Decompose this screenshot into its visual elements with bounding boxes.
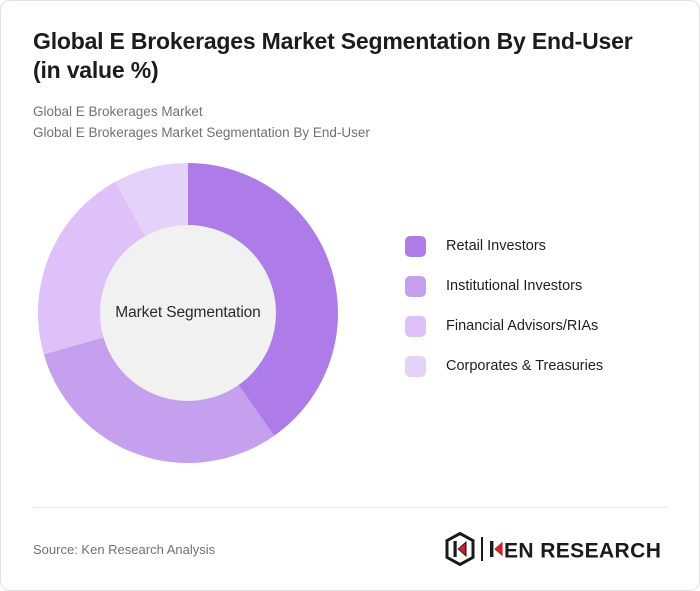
legend-item[interactable]: Corporates & Treasuries <box>405 356 667 377</box>
subtitle-group: Global E Brokerages Market Global E Brok… <box>33 102 667 144</box>
legend-item[interactable]: Financial Advisors/RIAs <box>405 316 667 337</box>
legend-swatch-icon <box>405 276 426 297</box>
legend-item-label: Financial Advisors/RIAs <box>446 318 598 334</box>
chart-subtitle-segmentation: Global E Brokerages Market Segmentation … <box>33 123 667 144</box>
legend-item[interactable]: Retail Investors <box>405 236 667 257</box>
donut-hole <box>100 225 276 401</box>
chart-body: Market Segmentation Retail InvestorsInst… <box>1 158 699 488</box>
donut-chart: Market Segmentation <box>33 158 343 468</box>
legend-swatch-icon <box>405 236 426 257</box>
ken-research-logo-svg: EN RESEARCH <box>445 532 667 566</box>
legend-item-label: Institutional Investors <box>446 278 582 294</box>
legend-item-label: Retail Investors <box>446 238 546 254</box>
source-label: Source: Ken Research Analysis <box>33 542 215 557</box>
donut-svg <box>33 158 343 468</box>
legend-item-label: Corporates & Treasuries <box>446 358 603 374</box>
logo-hex-mark <box>447 534 473 565</box>
chart-footer: Source: Ken Research Analysis EN RESEARC… <box>33 526 667 572</box>
legend-swatch-icon <box>405 356 426 377</box>
logo-text: EN RESEARCH <box>504 540 661 563</box>
legend-swatch-icon <box>405 316 426 337</box>
page-title: Global E Brokerages Market Segmentation … <box>33 27 633 86</box>
chart-card: Global E Brokerages Market Segmentation … <box>0 0 700 591</box>
logo-separator-bar <box>481 537 483 561</box>
chart-header: Global E Brokerages Market Segmentation … <box>1 1 699 144</box>
logo-wordmark: EN RESEARCH <box>490 540 661 563</box>
chart-subtitle-market: Global E Brokerages Market <box>33 102 667 123</box>
footer-divider <box>33 507 667 508</box>
ken-research-logo: EN RESEARCH <box>445 532 667 566</box>
chart-legend: Retail InvestorsInstitutional InvestorsF… <box>405 236 667 377</box>
legend-item[interactable]: Institutional Investors <box>405 276 667 297</box>
